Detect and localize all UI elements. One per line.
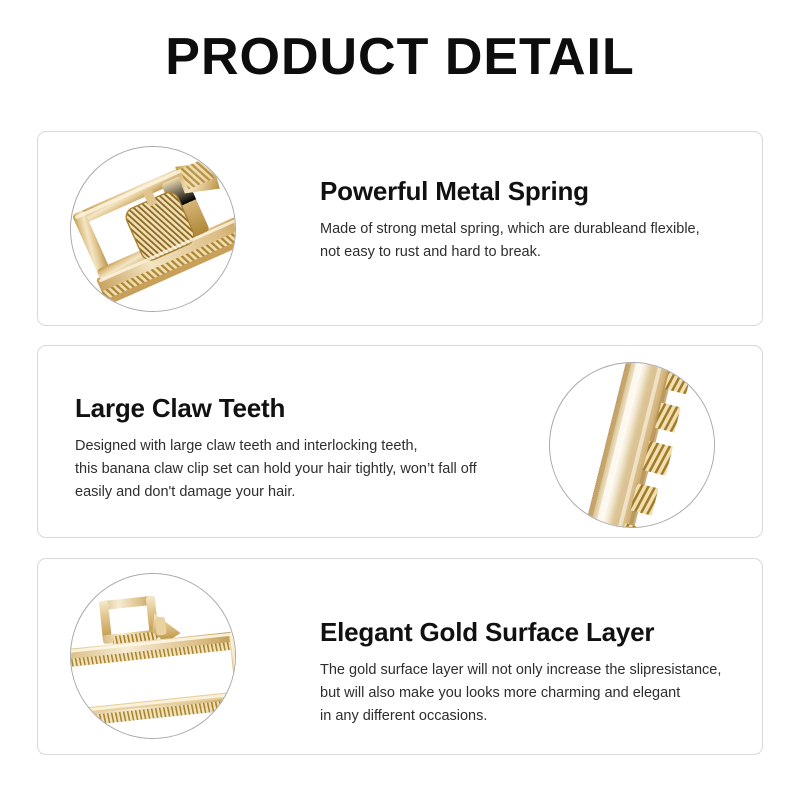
feature-title: Large Claw Teeth (75, 393, 545, 423)
feature-body-line: The gold surface layer will not only inc… (320, 659, 770, 682)
feature-body: The gold surface layer will not only inc… (320, 659, 770, 728)
claw-teeth-svg (550, 363, 715, 528)
product-image-metal-spring (70, 146, 236, 312)
feature-text-large-claw-teeth: Large Claw Teeth Designed with large cla… (75, 393, 545, 504)
feature-title: Powerful Metal Spring (320, 176, 770, 206)
claw-teeth-illustration (550, 363, 714, 527)
feature-title: Elegant Gold Surface Layer (320, 617, 770, 647)
feature-body: Designed with large claw teeth and inter… (75, 435, 545, 504)
gold-clip-illustration (71, 574, 235, 738)
product-image-claw-teeth (549, 362, 715, 528)
gold-clip-svg (71, 574, 236, 739)
product-detail-page: PRODUCT DETAIL (0, 0, 800, 800)
feature-text-powerful-metal-spring: Powerful Metal Spring Made of strong met… (320, 176, 770, 264)
product-image-gold-clip (70, 573, 236, 739)
feature-body-line: Designed with large claw teeth and inter… (75, 435, 545, 458)
feature-body-line: in any different occasions. (320, 705, 770, 728)
feature-card-powerful-metal-spring: Powerful Metal Spring Made of strong met… (37, 131, 763, 326)
feature-body-line: this banana claw clip set can hold your … (75, 458, 545, 481)
feature-body-line: not easy to rust and hard to break. (320, 241, 770, 264)
feature-card-elegant-gold-surface-layer: Elegant Gold Surface Layer The gold surf… (37, 558, 763, 755)
feature-body-line: Made of strong metal spring, which are d… (320, 218, 770, 241)
metal-spring-svg (71, 147, 236, 312)
feature-body-line: but will also make you looks more charmi… (320, 682, 770, 705)
feature-text-elegant-gold-surface-layer: Elegant Gold Surface Layer The gold surf… (320, 617, 770, 728)
feature-body-line: easily and don't damage your hair. (75, 481, 545, 504)
page-title: PRODUCT DETAIL (0, 26, 800, 88)
metal-spring-illustration (71, 147, 235, 311)
feature-card-large-claw-teeth: Large Claw Teeth Designed with large cla… (37, 345, 763, 538)
feature-body: Made of strong metal spring, which are d… (320, 218, 770, 264)
